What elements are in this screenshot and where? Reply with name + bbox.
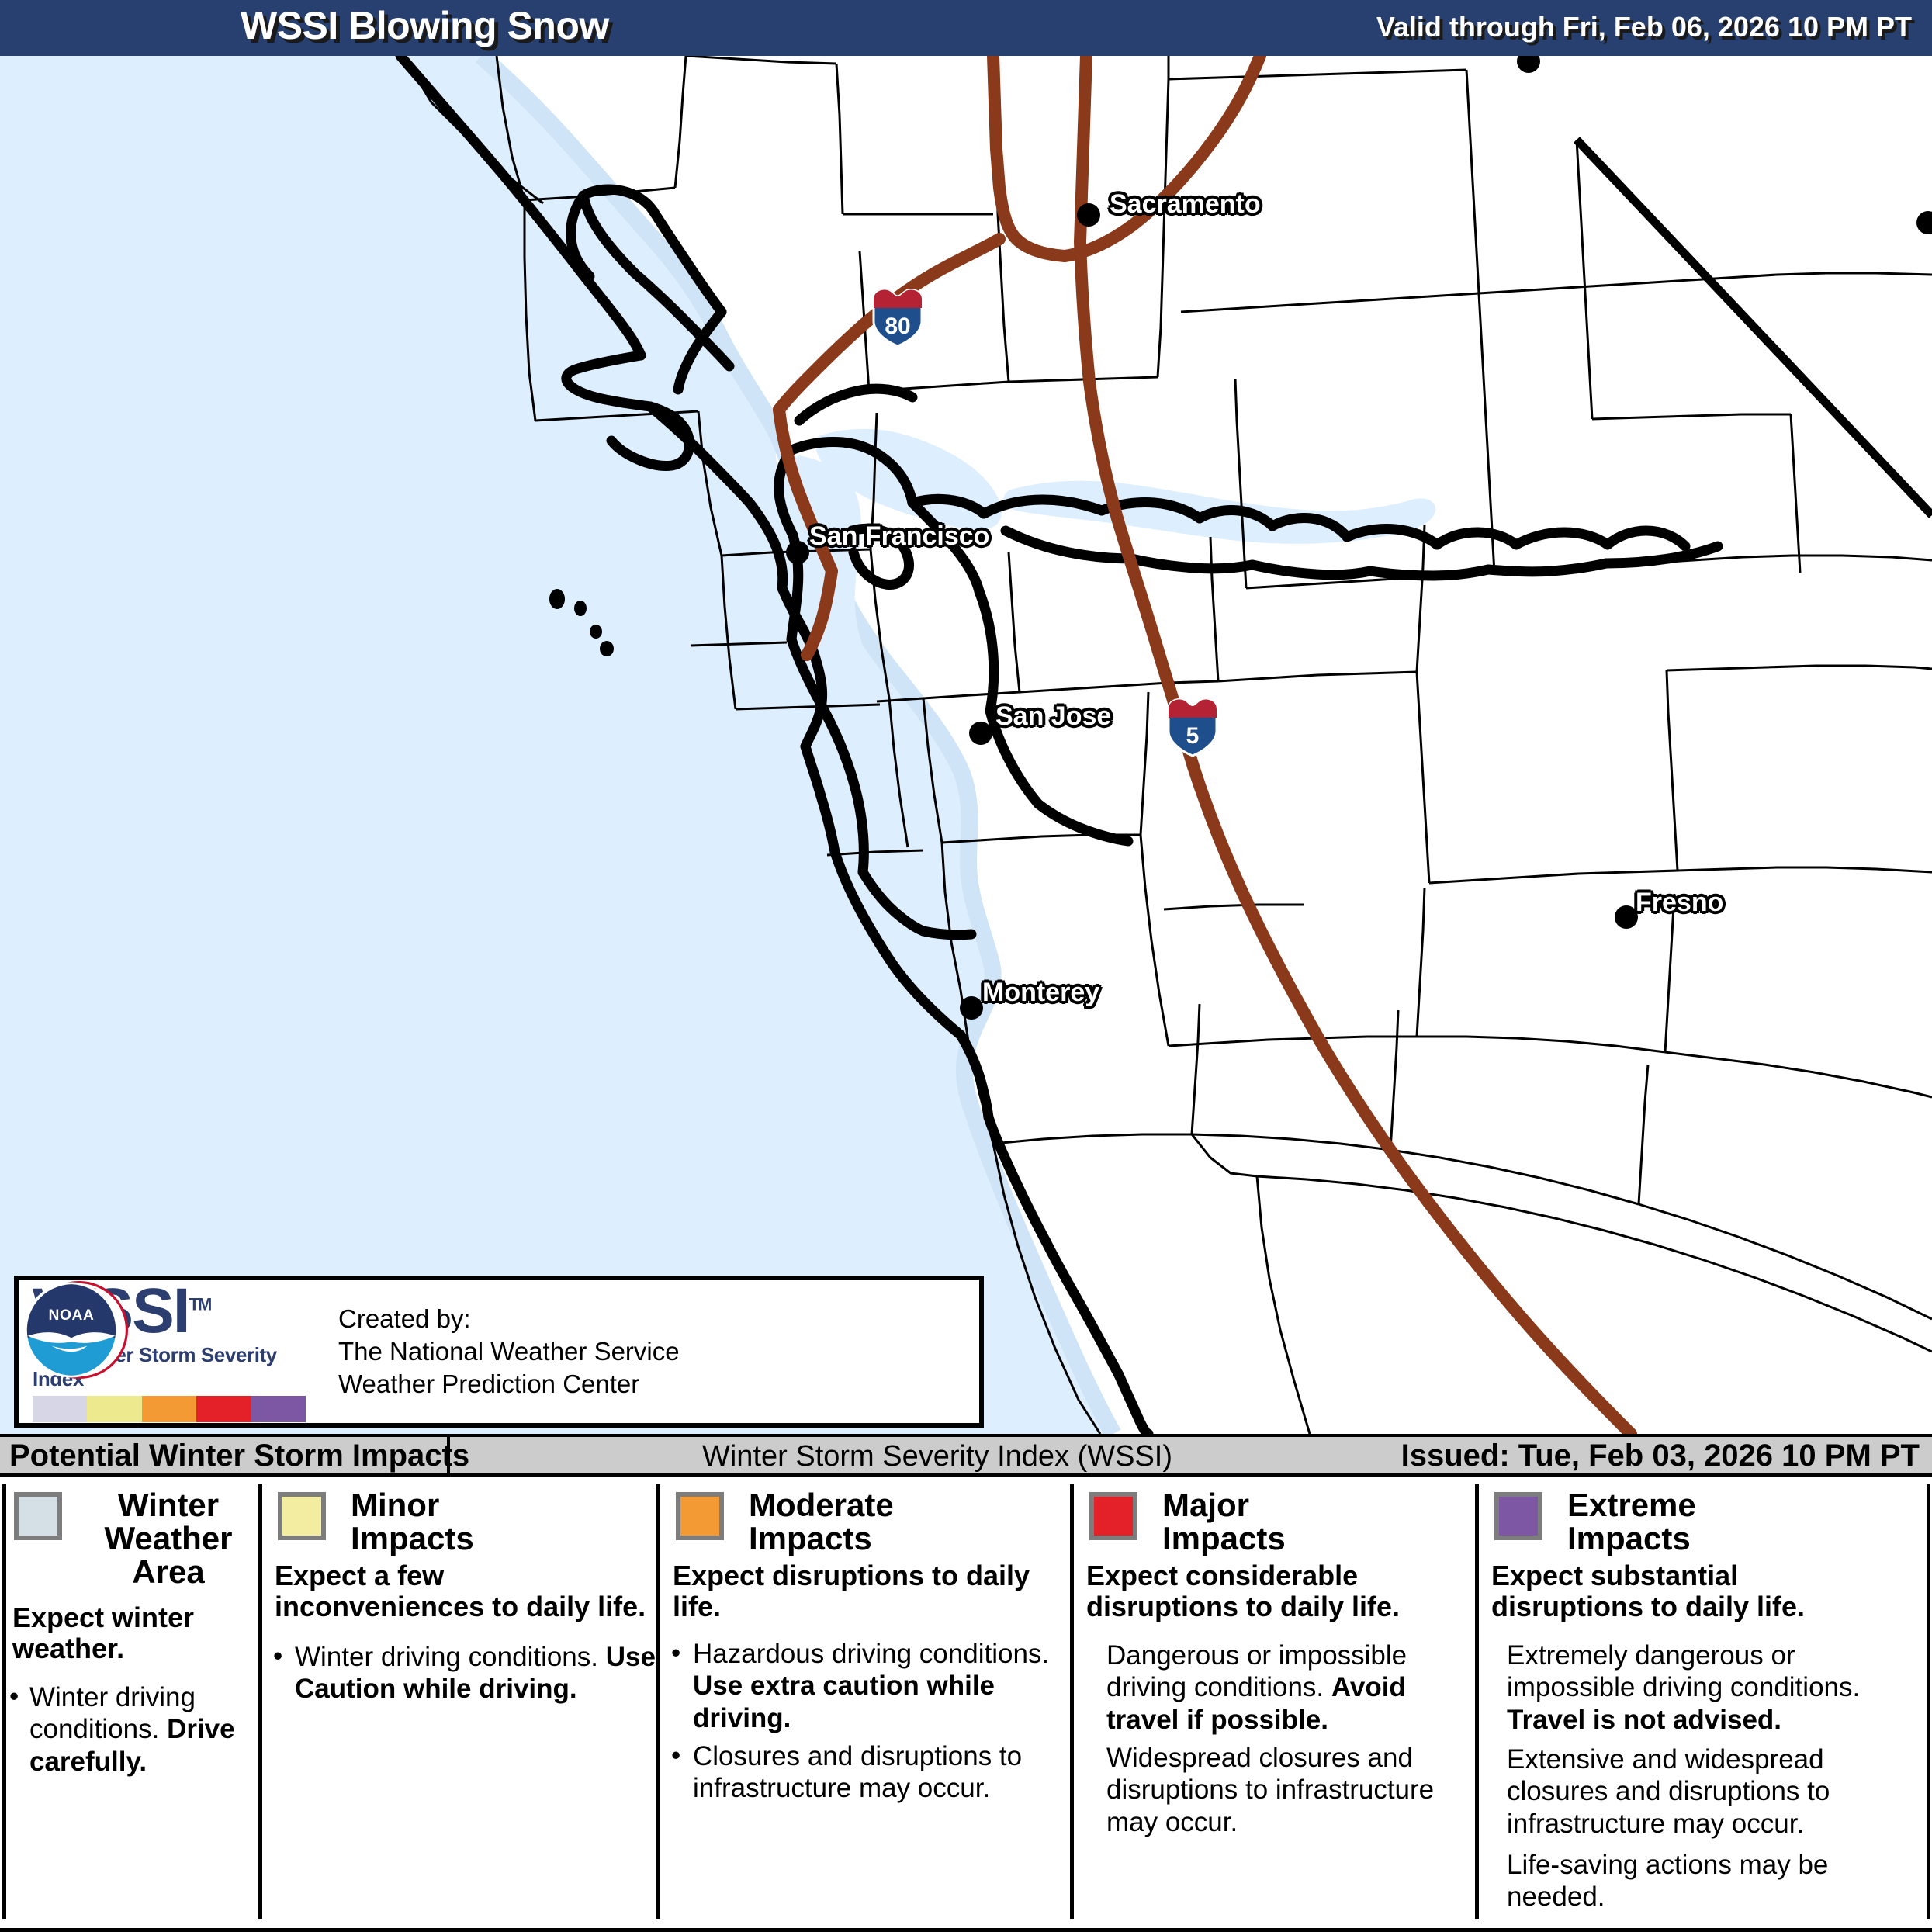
gradient-swatch-1 [33, 1396, 87, 1422]
legend-headline-major-impacts: Expect considerable disruptions to daily… [1086, 1560, 1466, 1623]
valid-through-text: Valid through Fri, Feb 06, 2026 10 PM PT [1376, 11, 1912, 43]
legend-bullet-text-0-0: Winter driving conditions. Drive careful… [29, 1681, 256, 1778]
legend-swatch-minor-impacts [278, 1492, 326, 1540]
city-label-monterey: Monterey [982, 978, 1099, 1008]
legend-bullet-text-4-1: Extensive and widespread closures and di… [1507, 1743, 1856, 1840]
city-dot-monterey [960, 996, 983, 1020]
impacts-bar-divider [447, 1437, 450, 1474]
legend-bullet-bold-4-0: Travel is not advised. [1507, 1705, 1781, 1735]
legend-headline-moderate-impacts: Expect disruptions to daily life. [673, 1560, 1061, 1623]
legend-headline-extreme-impacts: Expect substantial disruptions to daily … [1491, 1560, 1856, 1623]
city-dot-sacramento [1077, 203, 1100, 227]
impacts-bar-left-title: Potential Winter Storm Impacts [9, 1439, 469, 1473]
legend-bullet-bold-2-0: Use extra caution while driving. [693, 1671, 995, 1733]
legend-panel: Winter Weather Area Expect winter weathe… [0, 1478, 1932, 1932]
created-by-org: The National Weather Service [338, 1335, 680, 1368]
legend-headline-winter-weather-area: Expect winter weather. [12, 1602, 253, 1665]
city-label-san-francisco: San Francisco [809, 521, 989, 552]
created-by-center: Weather Prediction Center [338, 1368, 680, 1401]
legend-swatch-winter-weather-area [14, 1492, 62, 1540]
gradient-swatch-5 [251, 1396, 306, 1422]
legend-bullet-marker-2-1: • [671, 1740, 680, 1771]
gradient-swatch-3 [142, 1396, 196, 1422]
page-header: WSSI Blowing Snow Valid through Fri, Feb… [0, 0, 1932, 56]
legend-bullet-plain-2-1: Closures and disruptions to infrastructu… [693, 1741, 1022, 1803]
farallon-islands [549, 589, 614, 656]
legend-bullet-text-2-0: Hazardous driving conditions. Use extra … [693, 1638, 1064, 1734]
legend-divider-4 [1475, 1484, 1479, 1919]
legend-swatch-extreme-impacts [1494, 1492, 1542, 1540]
created-by-label: Created by: [338, 1303, 680, 1335]
legend-swatch-major-impacts [1089, 1492, 1137, 1540]
legend-title-major-impacts: Major Impacts [1162, 1489, 1286, 1556]
city-label-fresno: Fresno [1636, 888, 1723, 918]
impacts-bar-center-title: Winter Storm Severity Index (WSSI) [702, 1440, 1172, 1473]
interstate-shield-5[interactable]: 5 [1164, 691, 1221, 757]
legend-bullet-text-1-0: Winter driving conditions. Use Caution w… [295, 1641, 658, 1705]
legend-bullet-marker-2-0: • [671, 1638, 680, 1669]
wssi-logo-box: WSSITM The Winter Storm Severity Index [14, 1276, 984, 1428]
legend-title-winter-weather-area: Winter Weather Area [84, 1489, 253, 1588]
city-dot-san-francisco [786, 541, 809, 564]
legend-swatch-moderate-impacts [676, 1492, 724, 1540]
legend-bullet-plain-4-2: Life-saving actions may be needed. [1507, 1850, 1828, 1912]
legend-title-moderate-impacts: Moderate Impacts [749, 1489, 894, 1556]
interstate-shield-80[interactable]: 80 [869, 281, 926, 348]
legend-bullet-text-4-2: Life-saving actions may be needed. [1507, 1849, 1871, 1913]
legend-left-border [2, 1484, 6, 1919]
legend-bullet-marker-1-0: • [273, 1641, 282, 1672]
page-title: WSSI Blowing Snow [241, 3, 609, 48]
legend-bullet-plain-1-0: Winter driving conditions. [295, 1642, 606, 1672]
noaa-seal-icon: NOAA [22, 1280, 121, 1380]
wssi-severity-gradient-bar [33, 1396, 306, 1422]
legend-bullet-text-3-0: Dangerous or impossible driving conditio… [1106, 1639, 1463, 1736]
legend-bullet-plain-3-1: Widespread closures and disruptions to i… [1106, 1743, 1434, 1837]
legend-divider-3 [1070, 1484, 1074, 1919]
shield-number-80: 80 [885, 313, 910, 339]
legend-title-minor-impacts: Minor Impacts [351, 1489, 474, 1556]
legend-bullet-text-4-0: Extremely dangerous or impossible drivin… [1507, 1639, 1871, 1736]
map-canvas[interactable]: Sacramento San Francisco San Jose Fresno… [0, 56, 1932, 1434]
created-by-block: Created by: The National Weather Service… [338, 1303, 680, 1401]
city-dot-san-jose [969, 722, 992, 745]
legend-right-border [1927, 1484, 1930, 1919]
legend-title-extreme-impacts: Extreme Impacts [1567, 1489, 1696, 1556]
city-label-san-jose: San Jose [995, 701, 1111, 732]
impacts-bar: Potential Winter Storm Impacts Winter St… [0, 1434, 1932, 1477]
shield-number-5: 5 [1186, 723, 1200, 749]
legend-bullet-marker-0-0: • [9, 1681, 19, 1712]
legend-bullet-plain-2-0: Hazardous driving conditions. [693, 1639, 1049, 1669]
svg-text:NOAA: NOAA [48, 1307, 94, 1324]
map-geometry [0, 56, 1932, 1434]
legend-divider-1 [258, 1484, 262, 1919]
trademark-symbol: TM [189, 1295, 211, 1314]
city-label-sacramento: Sacramento [1110, 189, 1261, 220]
city-dot-fresno [1615, 905, 1638, 929]
legend-bullet-plain-4-0: Extremely dangerous or impossible drivin… [1507, 1640, 1860, 1702]
gradient-swatch-4 [196, 1396, 251, 1422]
impacts-bar-issued-text: Issued: Tue, Feb 03, 2026 10 PM PT [1401, 1439, 1920, 1473]
legend-bullet-text-3-1: Widespread closures and disruptions to i… [1106, 1742, 1463, 1838]
legend-headline-minor-impacts: Expect a few inconveniences to daily lif… [275, 1560, 653, 1623]
gradient-swatch-2 [87, 1396, 141, 1422]
wssi-blowing-snow-map-page: WSSI Blowing Snow Valid through Fri, Feb… [0, 0, 1932, 1932]
legend-bullet-plain-4-1: Extensive and widespread closures and di… [1507, 1744, 1830, 1839]
legend-bullet-text-2-1: Closures and disruptions to infrastructu… [693, 1740, 1064, 1805]
